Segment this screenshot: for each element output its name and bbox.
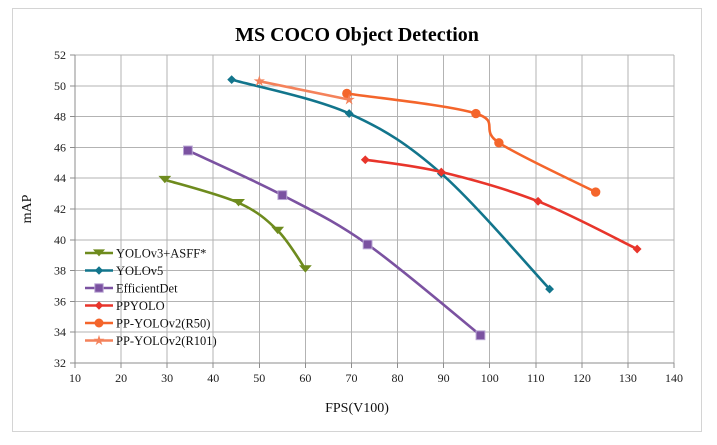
x-tick-label: 50: [253, 371, 265, 385]
x-tick-label: 80: [392, 371, 404, 385]
chart-frame: MS COCO Object Detection 323436384042444…: [12, 8, 702, 432]
x-tick-label: 120: [573, 371, 591, 385]
y-tick-label: 50: [54, 79, 66, 93]
x-tick-label: 140: [665, 371, 683, 385]
x-tick-label: 60: [299, 371, 311, 385]
x-tick-label: 40: [207, 371, 219, 385]
x-tick-label: 30: [161, 371, 173, 385]
data-point-marker: [342, 89, 351, 98]
x-tick-label: 20: [115, 371, 127, 385]
y-tick-label: 40: [54, 233, 66, 247]
data-point-marker: [591, 187, 600, 196]
data-point-marker: [95, 319, 104, 328]
ms-coco-object-detection-chart: MS COCO Object Detection 323436384042444…: [13, 9, 701, 431]
chart-title: MS COCO Object Detection: [235, 24, 479, 46]
y-tick-label: 36: [54, 294, 66, 308]
legend-label: EfficientDet: [116, 282, 178, 296]
data-point-marker: [363, 240, 372, 249]
y-tick-label: 44: [54, 171, 66, 185]
legend-label: PPYOLO: [116, 299, 165, 313]
y-tick-label: 46: [54, 140, 66, 154]
y-tick-label: 34: [54, 325, 66, 339]
x-axis-title: FPS(V100): [325, 401, 389, 416]
x-tick-label: 100: [481, 371, 499, 385]
data-point-marker: [95, 284, 103, 292]
x-tick-label: 110: [527, 371, 545, 385]
legend-label: YOLOv5: [116, 264, 163, 278]
data-point-marker: [278, 191, 287, 200]
y-tick-label: 52: [54, 48, 66, 62]
data-point-marker: [183, 146, 192, 155]
data-point-marker: [476, 331, 485, 340]
plot-background: [13, 9, 701, 431]
y-tick-label: 42: [54, 202, 66, 216]
data-point-marker: [494, 138, 503, 147]
legend-label: PP-YOLOv2(R50): [116, 317, 210, 331]
y-tick-label: 48: [54, 110, 66, 124]
x-tick-label: 90: [438, 371, 450, 385]
y-tick-label: 38: [54, 264, 66, 278]
x-tick-label: 70: [345, 371, 357, 385]
y-axis-title: mAP: [20, 194, 35, 223]
x-tick-label: 10: [69, 371, 81, 385]
y-tick-label: 32: [54, 356, 66, 370]
x-tick-label: 130: [619, 371, 637, 385]
legend-label: YOLOv3+ASFF*: [116, 247, 206, 261]
legend-label: PP-YOLOv2(R101): [116, 334, 217, 348]
data-point-marker: [471, 109, 480, 118]
